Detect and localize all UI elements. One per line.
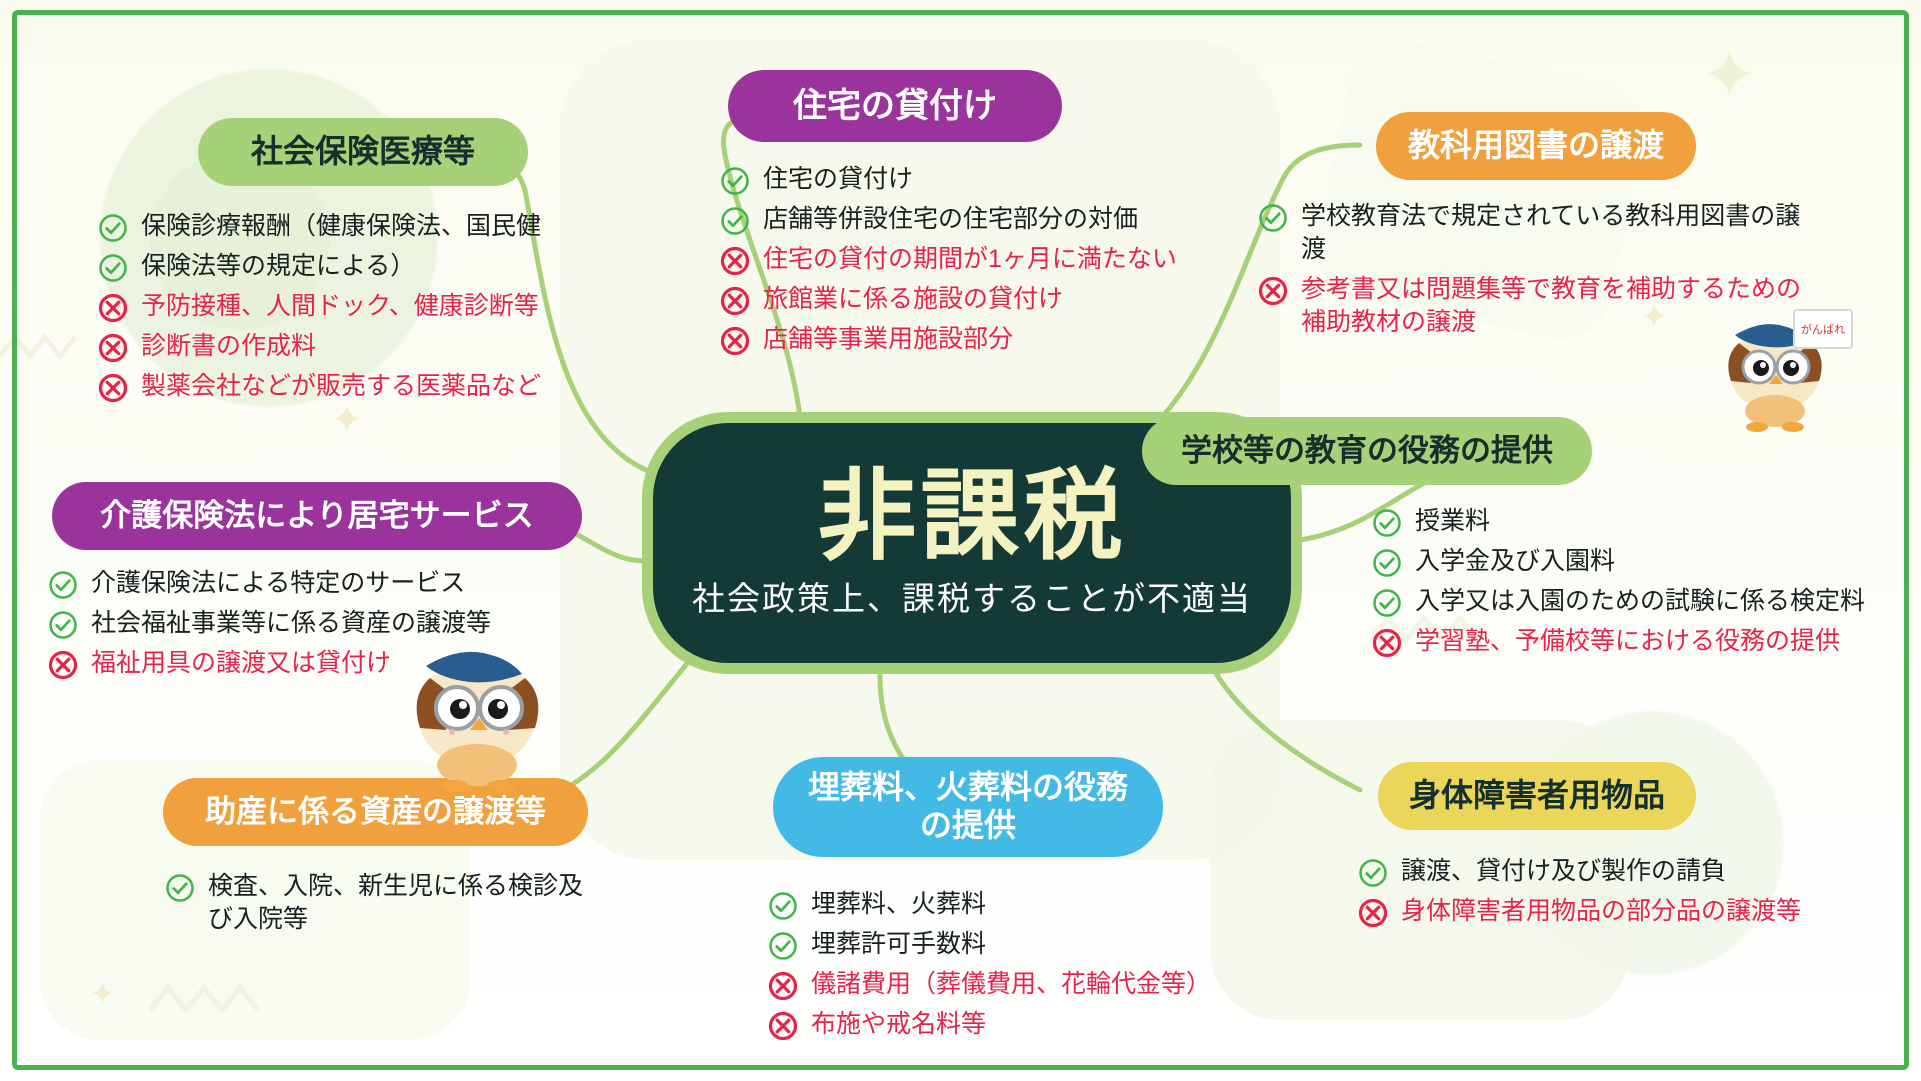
check-circle-icon <box>98 213 128 243</box>
cross-circle-icon <box>768 1011 798 1041</box>
check-circle-icon <box>768 931 798 961</box>
list-item: 介護保険法による特定のサービス <box>48 567 568 600</box>
cross-circle-icon <box>1372 628 1402 658</box>
mascot-banner: がんばれ <box>1793 309 1853 349</box>
center-title: 非課税 <box>818 466 1127 567</box>
check-circle-icon <box>48 570 78 600</box>
cross-circle-icon <box>98 333 128 363</box>
owl-mascot-right: がんばれ <box>1715 315 1835 435</box>
list-item-text: 保険法等の規定による） <box>141 250 628 283</box>
list-item: 社会福祉事業等に係る資産の譲渡等 <box>48 607 568 640</box>
branch-pill-maisou[interactable]: 埋葬料、火葬料の役務の提供 <box>773 757 1163 857</box>
branch-pill-label: 身体障害者用物品 <box>1409 777 1665 815</box>
list-item-text: 埋葬料、火葬料 <box>811 888 1288 921</box>
infographic-canvas: ✦ ✦ ✦ ✦ 非課税 社 <box>0 0 1921 1081</box>
cross-circle-icon <box>48 650 78 680</box>
list-item: 店舗等事業用施設部分 <box>720 323 1280 356</box>
branch-pill-shakai-hoken[interactable]: 社会保険医療等 <box>198 118 528 186</box>
list-item: 予防接種、人間ドック、健康診断等 <box>98 290 628 323</box>
list-item-text: 社会福祉事業等に係る資産の譲渡等 <box>91 607 568 640</box>
list-item: 学習塾、予備校等における役務の提供 <box>1372 625 1921 658</box>
check-circle-icon <box>1372 548 1402 578</box>
check-circle-icon <box>768 891 798 921</box>
list-item: 店舗等併設住宅の住宅部分の対価 <box>720 203 1280 236</box>
list-item: 学校教育法で規定されている教科用図書の譲渡 <box>1258 200 1813 266</box>
list-item-text: 介護保険法による特定のサービス <box>91 567 568 600</box>
cross-circle-icon <box>98 373 128 403</box>
zigzag-decoration <box>0 330 90 366</box>
list-item-text: 授業料 <box>1415 505 1921 538</box>
check-circle-icon <box>1372 508 1402 538</box>
list-item: 保険診療報酬（健康保険法、国民健 <box>98 210 628 243</box>
list-item-text: 埋葬許可手数料 <box>811 928 1288 961</box>
list-item-text: 予防接種、人間ドック、健康診断等 <box>141 290 628 323</box>
check-circle-icon <box>1358 858 1388 888</box>
list-item: 住宅の貸付の期間が1ヶ月に満たない <box>720 243 1280 276</box>
center-subtitle: 社会政策上、課税することが不適当 <box>692 572 1252 620</box>
branch-list-maisou: 埋葬料、火葬料埋葬許可手数料儀諸費用（葬儀費用、花輪代金等）布施や戒名料等 <box>768 888 1288 1048</box>
check-circle-icon <box>720 166 750 196</box>
owl-mascot-left <box>400 640 555 795</box>
branch-pill-kaigo-hoken[interactable]: 介護保険法により居宅サービス <box>52 482 582 550</box>
check-circle-icon <box>1258 203 1288 233</box>
branch-pill-label: 教科用図書の譲渡 <box>1408 127 1664 165</box>
check-circle-icon <box>98 253 128 283</box>
check-circle-icon <box>165 873 195 903</box>
branch-pill-jutaku-kashitsuke[interactable]: 住宅の貸付け <box>728 70 1062 142</box>
branch-list-josan: 検査、入院、新生児に係る検診及び入院等 <box>165 870 595 943</box>
list-item: 製薬会社などが販売する医薬品など <box>98 370 628 403</box>
cross-circle-icon <box>1258 276 1288 306</box>
list-item-text: 入学又は入園のための試験に係る検定料 <box>1415 585 1921 618</box>
branch-pill-label: 助産に係る資産の譲渡等 <box>205 794 546 831</box>
cross-circle-icon <box>720 246 750 276</box>
sparkle-decoration: ✦ <box>1700 40 1759 110</box>
list-item: 身体障害者用物品の部分品の譲渡等 <box>1358 895 1888 928</box>
list-item-text: 診断書の作成料 <box>141 330 628 363</box>
branch-pill-label: 住宅の貸付け <box>793 86 997 126</box>
list-item: 譲渡、貸付け及び製作の請負 <box>1358 855 1888 888</box>
branch-pill-kyoka-tosho[interactable]: 教科用図書の譲渡 <box>1376 112 1696 180</box>
list-item-text: 店舗等事業用施設部分 <box>763 323 1280 356</box>
list-item: 埋葬許可手数料 <box>768 928 1288 961</box>
cross-circle-icon <box>720 326 750 356</box>
branch-pill-shintai-shogai[interactable]: 身体障害者用物品 <box>1378 762 1696 830</box>
branch-list-shakai-hoken: 保険診療報酬（健康保険法、国民健保険法等の規定による）予防接種、人間ドック、健康… <box>98 210 628 410</box>
list-item: 埋葬料、火葬料 <box>768 888 1288 921</box>
list-item: 布施や戒名料等 <box>768 1008 1288 1041</box>
list-item-text: 学校教育法で規定されている教科用図書の譲渡 <box>1301 200 1813 266</box>
branch-pill-gakko-kyoiku[interactable]: 学校等の教育の役務の提供 <box>1142 417 1592 485</box>
list-item: 儀諸費用（葬儀費用、花輪代金等） <box>768 968 1288 1001</box>
list-item-text: 住宅の貸付け <box>763 163 1280 196</box>
list-item: 検査、入院、新生児に係る検診及び入院等 <box>165 870 595 936</box>
branch-list-jutaku-kashitsuke: 住宅の貸付け店舗等併設住宅の住宅部分の対価住宅の貸付の期間が1ヶ月に満たない旅館… <box>720 163 1280 363</box>
check-circle-icon <box>1372 588 1402 618</box>
list-item: 住宅の貸付け <box>720 163 1280 196</box>
list-item-text: 身体障害者用物品の部分品の譲渡等 <box>1401 895 1888 928</box>
list-item-text: 譲渡、貸付け及び製作の請負 <box>1401 855 1888 888</box>
check-circle-icon <box>48 610 78 640</box>
cross-circle-icon <box>98 293 128 323</box>
sparkle-decoration: ✦ <box>90 980 115 1010</box>
branch-list-shintai-shogai: 譲渡、貸付け及び製作の請負身体障害者用物品の部分品の譲渡等 <box>1358 855 1888 935</box>
list-item-text: 製薬会社などが販売する医薬品など <box>141 370 628 403</box>
list-item: 授業料 <box>1372 505 1921 538</box>
branch-pill-label: 学校等の教育の役務の提供 <box>1181 433 1553 470</box>
list-item-text: 学習塾、予備校等における役務の提供 <box>1415 625 1921 658</box>
list-item-text: 入学金及び入園料 <box>1415 545 1921 578</box>
list-item-text: 旅館業に係る施設の貸付け <box>763 283 1280 316</box>
branch-pill-label: 埋葬料、火葬料の役務の提供 <box>799 769 1137 845</box>
branch-pill-label: 介護保険法により居宅サービス <box>100 498 533 535</box>
cross-circle-icon <box>768 971 798 1001</box>
list-item: 旅館業に係る施設の貸付け <box>720 283 1280 316</box>
cross-circle-icon <box>720 286 750 316</box>
list-item: 保険法等の規定による） <box>98 250 628 283</box>
list-item-text: 布施や戒名料等 <box>811 1008 1288 1041</box>
list-item: 診断書の作成料 <box>98 330 628 363</box>
check-circle-icon <box>720 206 750 236</box>
list-item: 入学又は入園のための試験に係る検定料 <box>1372 585 1921 618</box>
zigzag-decoration <box>150 980 270 1020</box>
list-item-text: 保険診療報酬（健康保険法、国民健 <box>141 210 628 243</box>
list-item: 入学金及び入園料 <box>1372 545 1921 578</box>
cross-circle-icon <box>1358 898 1388 928</box>
list-item-text: 店舗等併設住宅の住宅部分の対価 <box>763 203 1280 236</box>
list-item-text: 検査、入院、新生児に係る検診及び入院等 <box>208 870 595 936</box>
list-item-text: 住宅の貸付の期間が1ヶ月に満たない <box>763 243 1280 276</box>
branch-pill-label: 社会保険医療等 <box>251 133 475 171</box>
branch-list-gakko-kyoiku: 授業料入学金及び入園料入学又は入園のための試験に係る検定料学習塾、予備校等におけ… <box>1372 505 1921 665</box>
list-item-text: 儀諸費用（葬儀費用、花輪代金等） <box>811 968 1288 1001</box>
